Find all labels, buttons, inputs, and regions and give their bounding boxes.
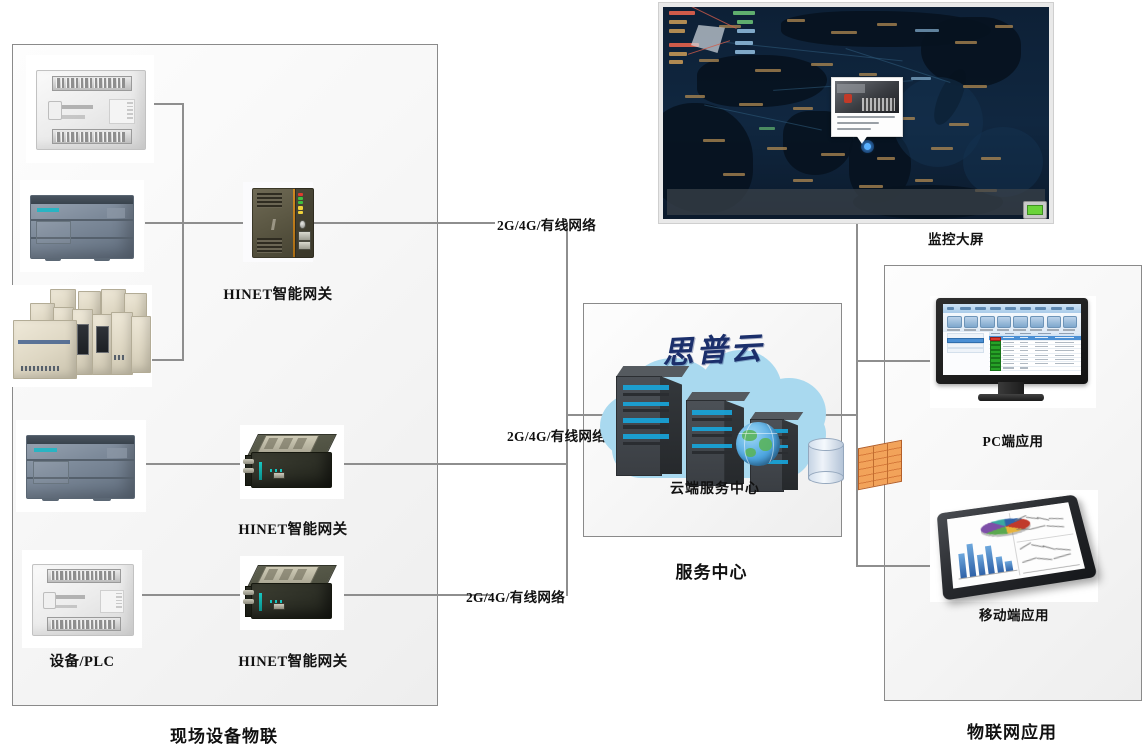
line-chart-segment [1055, 548, 1071, 550]
field-panel-caption: 现场设备物联 [12, 722, 436, 747]
terminal-block-bottom [47, 617, 122, 631]
bigscreen-stem [856, 224, 858, 225]
legend-entry [669, 60, 683, 64]
server-rack-large [616, 366, 682, 474]
terminal-block-top [52, 76, 131, 91]
gateway-indicator-fins [270, 469, 283, 472]
apps-trunk-vertical [856, 222, 858, 566]
screen-bottom-bar [667, 189, 1045, 215]
popup-text-line [837, 128, 871, 130]
rj45-port [273, 472, 285, 478]
line-chart-segment [1032, 525, 1047, 529]
plc-brand-mark [34, 448, 57, 452]
status-indicator-badge[interactable] [1023, 201, 1047, 219]
bar [966, 544, 976, 577]
plc-top-bar [27, 436, 134, 444]
link-plc1-to-bracket [152, 103, 184, 105]
plc-label-field [107, 448, 126, 458]
plc-door [36, 221, 71, 244]
gateway-shell [252, 188, 297, 259]
map-device-popup[interactable] [831, 77, 903, 137]
monitor-base [978, 394, 1044, 401]
plc-foot [42, 498, 59, 501]
line-chart-segment [1048, 518, 1063, 519]
table-row[interactable] [989, 366, 1081, 371]
legend-entry [733, 11, 755, 15]
mobile-application-tablet[interactable] [930, 490, 1098, 602]
gateway-teal-accent [259, 593, 263, 611]
map-display [663, 7, 1049, 219]
plc-brand-mark [55, 595, 85, 599]
tablet-body [937, 494, 1098, 600]
gateway-front-face [251, 452, 332, 488]
gateway-front-face [295, 188, 314, 259]
bar [995, 556, 1004, 573]
tree-node [947, 348, 985, 353]
network-label-2: 2G/4G/有线网络 [507, 425, 606, 445]
legend-entry [669, 11, 695, 15]
pc-application-monitor[interactable] [930, 296, 1096, 408]
link-plc2-to-bracket [145, 222, 185, 224]
led-yellow [298, 206, 302, 209]
led-yellow-2 [298, 211, 302, 214]
monitoring-big-screen[interactable] [658, 2, 1054, 224]
plc-port-cover [43, 592, 56, 610]
database-icon [808, 438, 842, 482]
antenna-sma-2 [243, 599, 253, 604]
plc-port-cover [48, 101, 62, 120]
device-photo [835, 81, 899, 113]
monitor-screen [943, 304, 1081, 375]
link-trunk-to-pc [856, 360, 932, 362]
terminal-block-top [47, 569, 122, 583]
plc-door [33, 461, 69, 484]
plc-foot [45, 258, 61, 261]
antenna-sma-2 [243, 468, 253, 473]
bar [958, 553, 967, 578]
gateway-hinet-box-1 [240, 425, 344, 499]
gateway-teal-accent [259, 462, 263, 480]
plc-model-mark [55, 605, 77, 608]
antenna-sma-1 [243, 590, 253, 595]
plc-body [32, 564, 135, 637]
popup-text-line [837, 122, 879, 124]
line-chart-segment [1022, 557, 1037, 563]
plc-top-bar [31, 196, 133, 204]
plc-led-panel [109, 99, 135, 124]
link-bracket-to-gateway1 [182, 222, 244, 224]
gateway-vent [257, 238, 282, 253]
plc-model-mark [61, 115, 85, 118]
server-cluster [608, 360, 823, 490]
led-red [298, 193, 302, 196]
map-location-marker[interactable] [861, 140, 874, 153]
cabinet-blue-stripe [18, 340, 70, 343]
link-gateway2-to-trunk [343, 463, 568, 465]
cloud-service-caption: 云端服务中心 [640, 478, 790, 498]
plc-label-field [107, 208, 125, 218]
gateway-hinet-box-2 [240, 556, 344, 630]
cabinet-module-tall [131, 316, 151, 373]
plc-body [30, 195, 134, 260]
link-trunk-to-mobile [856, 565, 932, 567]
service-panel-caption: 服务中心 [583, 558, 840, 583]
device-plc-label: 设备/PLC [22, 650, 142, 671]
legend-entry [737, 20, 753, 24]
apps-panel-caption: 物联网应用 [884, 718, 1140, 743]
firewall-icon [858, 440, 902, 491]
line-chart-segment [1037, 517, 1049, 520]
device-mitsubishi-plc-2 [22, 550, 142, 648]
network-label-3: 2G/4G/有线网络 [466, 586, 565, 606]
mobile-application-caption: 移动端应用 [930, 604, 1098, 624]
legend-entry [735, 50, 755, 54]
line-chart-segment [1043, 546, 1056, 550]
app-device-tree[interactable] [943, 332, 990, 375]
cabinet-grille [21, 366, 58, 371]
line-chart-segment [1053, 553, 1070, 559]
plc-brand-mark [61, 105, 93, 110]
rj45-port [273, 603, 285, 609]
pie-chart [980, 516, 1032, 537]
link-plc3-to-gateway2 [145, 463, 241, 465]
pc-application-caption: PC端应用 [930, 430, 1096, 450]
gateway-vent [257, 193, 282, 208]
gateway-label-3: HINET智能网关 [198, 650, 388, 671]
legend-entry [735, 41, 753, 45]
plc-led-panel [100, 590, 124, 613]
link-plc4-to-gateway3 [140, 594, 240, 596]
bar [977, 555, 986, 576]
chart-axis [1023, 564, 1080, 574]
bar [984, 545, 994, 574]
cabinet-main-unit [13, 320, 77, 379]
device-siemens-plc [20, 180, 144, 272]
led-green [298, 197, 302, 200]
rj45-port-1 [298, 231, 310, 241]
big-screen-caption: 监控大屏 [836, 228, 1076, 248]
globe-icon [736, 422, 780, 466]
status-dot [990, 367, 1000, 371]
rj45-port-2 [298, 241, 310, 251]
gateway-front-face [251, 583, 332, 619]
antenna-connector [299, 220, 306, 230]
popup-text-line [837, 116, 895, 118]
app-toolbar[interactable] [943, 313, 1081, 332]
gateway-label-1: HINET智能网关 [198, 283, 358, 304]
line-chart-segment [1020, 543, 1031, 550]
sea-region-2 [963, 127, 1043, 197]
link-gateway1-to-trunk [313, 222, 495, 224]
link-bracket-vertical [182, 103, 184, 361]
line-chart-segment [1046, 525, 1064, 527]
app-data-grid[interactable] [989, 332, 1081, 375]
device-controller-cabinets [10, 285, 152, 387]
plc-foot-right [93, 498, 110, 501]
legend-entry [737, 29, 755, 33]
plc-brand-mark [37, 208, 59, 212]
antenna-sma-1 [243, 459, 253, 464]
link-cloud-to-apps-trunk [822, 414, 858, 416]
cabinet-module-tall [111, 312, 133, 375]
network-label-1: 2G/4G/有线网络 [497, 214, 596, 234]
network-trunk-vertical [566, 222, 568, 596]
legend-entry [669, 20, 687, 24]
legend-entry [669, 52, 687, 56]
cabinet-module-tall [92, 314, 112, 375]
led-green-2 [298, 201, 302, 204]
plc-body [36, 70, 146, 150]
legend-entry [669, 29, 685, 33]
link-cabinets-to-bracket [152, 359, 184, 361]
monitor-bezel [936, 298, 1088, 384]
line-chart-segment [1038, 558, 1054, 560]
device-siemens-plc-2 [16, 420, 146, 512]
gateway-indicator-fins [270, 600, 283, 603]
plc-body [26, 435, 135, 500]
terminal-block-bottom [52, 129, 131, 144]
gateway-logo-mark [271, 219, 276, 230]
tablet-screen [947, 502, 1085, 588]
device-mitsubishi-plc [26, 55, 154, 163]
gateway-hinet-din [243, 182, 313, 262]
gateway-label-2: HINET智能网关 [198, 518, 388, 539]
plc-foot-right [94, 258, 110, 261]
